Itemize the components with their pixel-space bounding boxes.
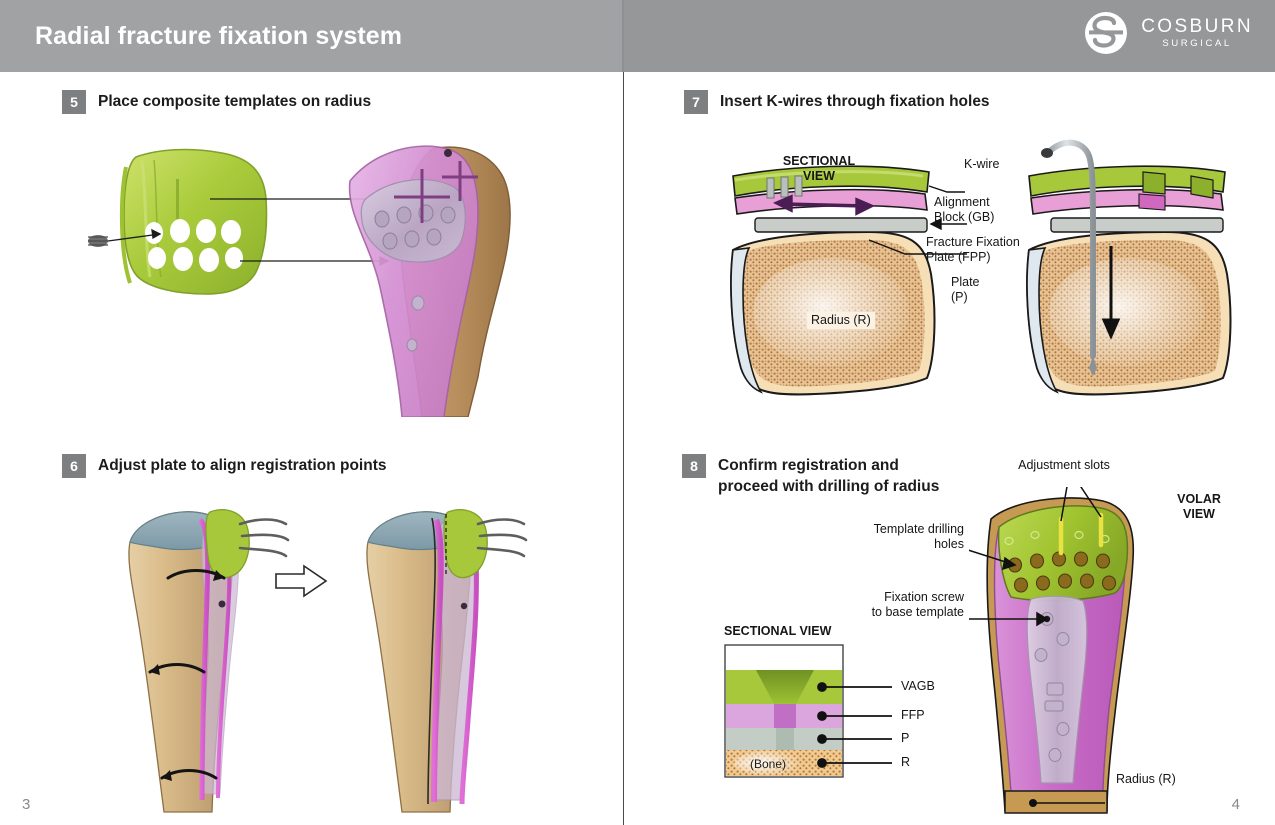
step8-volar-view-label: VOLAR VIEW bbox=[1164, 492, 1234, 522]
step-8-badge: 8 bbox=[682, 454, 706, 478]
bone-before-adjustment bbox=[129, 510, 288, 812]
step8-callout-adjustment-slots: Adjustment slots bbox=[999, 458, 1129, 473]
legend-key-ffp: FFP bbox=[901, 708, 925, 723]
legend-key-r: R bbox=[901, 755, 910, 770]
step7-callout-plate: Plate (P) bbox=[951, 275, 980, 305]
step7-callout-radius: Radius (R) bbox=[807, 312, 875, 329]
legend-key-p: P bbox=[901, 731, 909, 746]
sectional-block-left bbox=[731, 166, 967, 394]
step8-callout-fixation-screw: Fixation screw to base template bbox=[819, 590, 964, 620]
step-7-heading: 7 Insert K-wires through fixation holes bbox=[684, 90, 990, 114]
step8-callout-template-drilling-holes: Template drilling holes bbox=[809, 522, 964, 552]
step-6-heading: 6 Adjust plate to align registration poi… bbox=[62, 454, 386, 478]
logo-name: COSBURN bbox=[1141, 17, 1253, 37]
page-number-right: 4 bbox=[1232, 796, 1240, 813]
left-page: 5 Place composite templates on radius bbox=[0, 72, 623, 825]
step8-sectional-legend-figure: (Bone) bbox=[724, 644, 1014, 804]
cosburn-circle-s-logo-icon bbox=[1083, 10, 1129, 56]
brand-logo: COSBURN SURGICAL bbox=[1083, 10, 1253, 56]
radius-bone-with-plate bbox=[350, 146, 511, 417]
step7-sectional-view-label: SECTIONAL VIEW bbox=[764, 154, 874, 184]
step-5-badge: 5 bbox=[62, 90, 86, 114]
step7-callout-alignment-block: Alignment Block (GB) bbox=[934, 195, 994, 225]
fixation-screw-icon bbox=[88, 235, 108, 247]
logo-wordmark: COSBURN SURGICAL bbox=[1141, 17, 1253, 50]
svg-text:(Bone): (Bone) bbox=[750, 757, 786, 771]
sectional-block-right bbox=[1027, 143, 1230, 395]
composite-template-green bbox=[122, 150, 267, 294]
step7-callout-k-wire: K-wire bbox=[964, 157, 999, 172]
step-7-badge: 7 bbox=[684, 90, 708, 114]
step-7-title: Insert K-wires through fixation holes bbox=[720, 90, 990, 113]
transition-arrow-icon bbox=[276, 566, 326, 596]
step5-figure bbox=[50, 127, 520, 417]
step-6-title: Adjust plate to align registration point… bbox=[98, 454, 386, 477]
legend-key-vagb: VAGB bbox=[901, 679, 935, 694]
bone-after-adjustment bbox=[367, 510, 526, 812]
step-8-title: Confirm registration and proceed with dr… bbox=[718, 454, 950, 498]
step-6-badge: 6 bbox=[62, 454, 86, 478]
step7-callout-fracture-fixation-plate: Fracture Fixation Plate (FPP) bbox=[926, 235, 1020, 265]
right-page: 7 Insert K-wires through fixation holes bbox=[624, 72, 1275, 825]
slide-page: Radial fracture fixation system COSBURN … bbox=[0, 0, 1275, 825]
step-8-heading: 8 Confirm registration and proceed with … bbox=[682, 454, 950, 498]
step-5-heading: 5 Place composite templates on radius bbox=[62, 90, 371, 114]
step-5-title: Place composite templates on radius bbox=[98, 90, 371, 113]
step8-sectional-view-label: SECTIONAL VIEW bbox=[724, 624, 831, 639]
header-divider bbox=[622, 0, 624, 72]
page-title: Radial fracture fixation system bbox=[35, 22, 402, 51]
step8-callout-radius: Radius (R) bbox=[1116, 772, 1176, 787]
step6-figure bbox=[90, 482, 530, 822]
logo-subtitle: SURGICAL bbox=[1162, 38, 1231, 49]
page-number-left: 3 bbox=[22, 796, 30, 813]
